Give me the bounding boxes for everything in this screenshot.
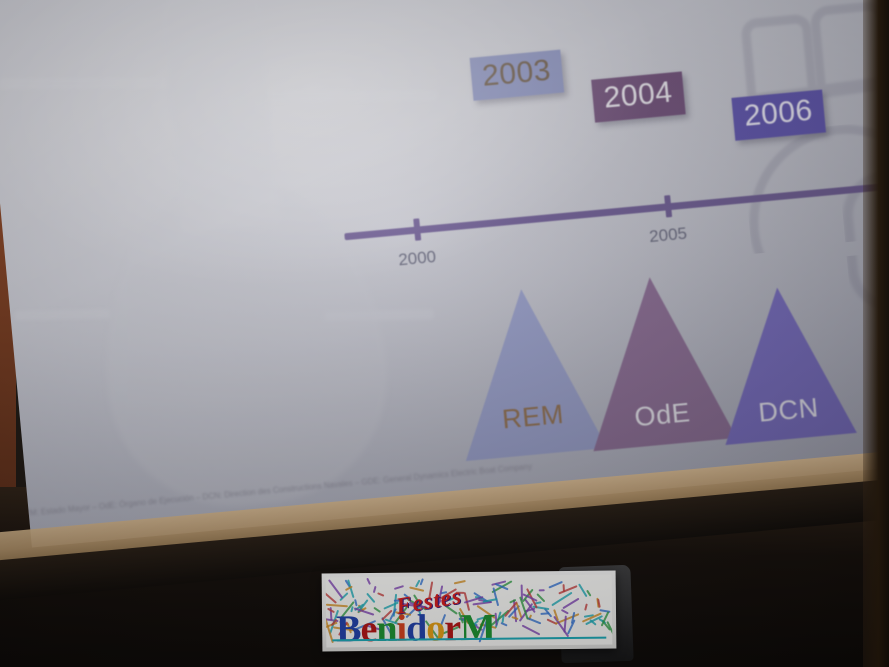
fireworks-decoration-icon: [326, 575, 612, 578]
phase-triangle-label-dcn: DCN: [757, 392, 820, 428]
poster-benidorm-text: BenidorM: [336, 606, 495, 648]
poster-letter: n: [376, 607, 397, 648]
poster-letter: d: [406, 606, 427, 647]
poster-letter: r: [444, 606, 460, 647]
phase-triangle-label-ode: OdE: [633, 397, 691, 433]
timeline-tick-2000: [414, 218, 422, 240]
poster-letter: o: [426, 606, 444, 647]
timeline-tick-2005: [664, 195, 672, 217]
wall-right-edge: [863, 0, 889, 667]
poster-letter: e: [360, 607, 376, 648]
year-badge-2006: 2006: [731, 90, 825, 141]
poster-artwork: Festes BenidorM: [326, 575, 613, 648]
year-badge-2003: 2003: [470, 50, 564, 101]
presentation-photo: El Programa S-80 2003 2004 2006 2000 200…: [0, 0, 889, 667]
timeline-tick-label-2005: 2005: [648, 224, 688, 247]
phase-triangle-label-rem: REM: [501, 399, 565, 436]
poster-letter: M: [460, 606, 495, 648]
poster-letter: i: [396, 607, 406, 648]
benidorm-poster: Festes BenidorM: [322, 570, 617, 651]
submarine-watermark-icon: [6, 0, 436, 503]
poster-letter: B: [336, 607, 361, 647]
timeline-tick-label-2000: 2000: [397, 247, 437, 270]
year-badge-2004: 2004: [591, 71, 685, 122]
